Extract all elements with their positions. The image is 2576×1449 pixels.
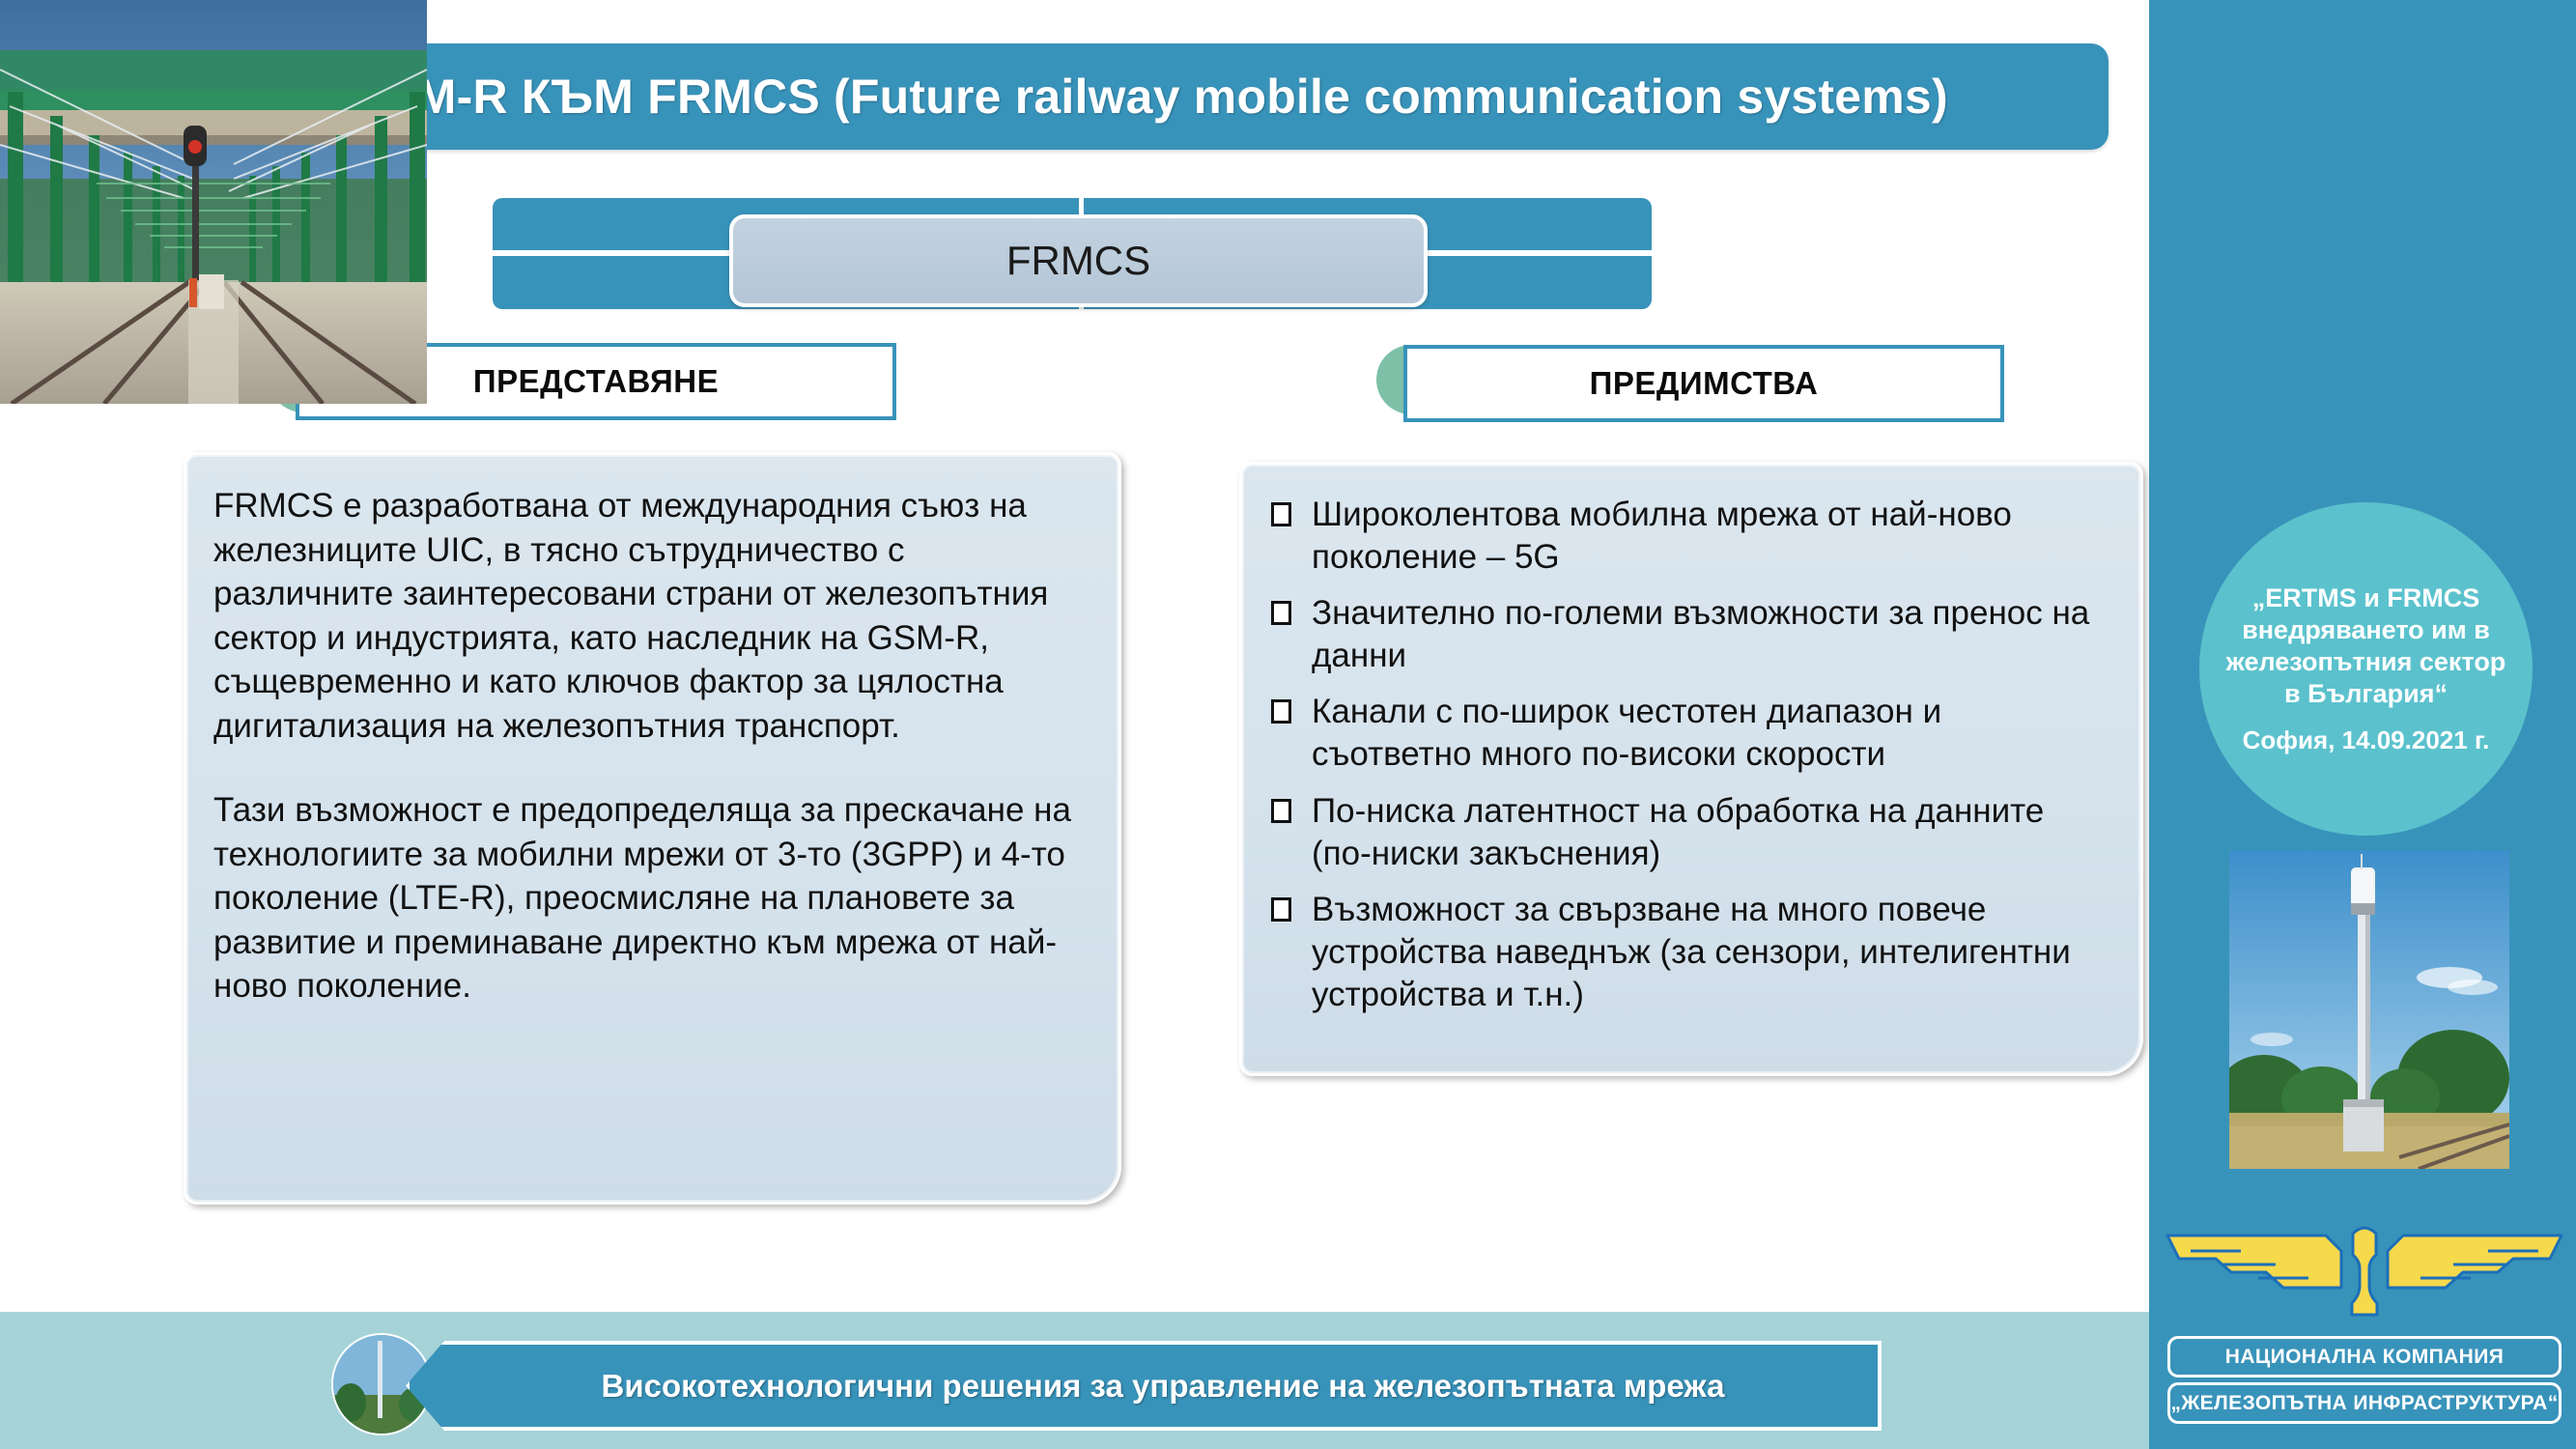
list-item: Значително по-големи възможности за прен… (1269, 592, 2108, 677)
section-heading-presentation: ПРЕДСТАВЯНЕ (473, 363, 719, 400)
frmcs-band: FRMCS (493, 198, 1652, 309)
list-item-label: Възможност за свързване на много повече … (1312, 891, 2071, 1013)
list-item: Възможност за свързване на много повече … (1269, 889, 2108, 1016)
square-bullet-icon (1271, 699, 1291, 724)
frmcs-label: FRMCS (1006, 238, 1150, 284)
presentation-panel-body: FRMCS е разработвана от международния съ… (186, 455, 1118, 1202)
winged-rail-emblem-icon (2162, 1212, 2567, 1328)
advantages-list: Широколентова мобилна мрежа от най-ново … (1269, 494, 2108, 1016)
list-item-label: Широколентова мобилна мрежа от най-ново … (1312, 496, 2012, 576)
advantages-panel-body: Широколентова мобилна мрежа от най-ново … (1242, 465, 2140, 1073)
event-date: София, 14.09.2021 г. (2243, 725, 2490, 755)
square-bullet-icon (1271, 601, 1291, 625)
footer-ribbon: Високотехнологични решения за управление… (406, 1341, 1882, 1431)
paragraph: FRMCS е разработвана от международния съ… (213, 484, 1086, 748)
event-title-circle: „ERTMS и FRMCS внедряването им в железоп… (2199, 502, 2533, 836)
list-item-label: Значително по-големи възможности за прен… (1312, 594, 2089, 674)
railway-tracks-photo (0, 0, 427, 404)
logo-line-2: „ЖЕЛЕЗОПЪТНА ИНФРАСТРУКТУРА“ (2167, 1382, 2562, 1424)
company-logo: НАЦИОНАЛНА КОМПАНИЯ „ЖЕЛЕЗОПЪТНА ИНФРАСТ… (2162, 1212, 2567, 1439)
frmcs-label-box: FRMCS (729, 214, 1428, 307)
square-bullet-icon (1271, 897, 1291, 922)
cell-tower-photo (2229, 850, 2509, 1169)
section-header-right: ПРЕДИМСТВА (1376, 345, 2004, 414)
section-heading-advantages: ПРЕДИМСТВА (1590, 365, 1819, 402)
presentation-panel: FRMCS е разработвана от международния съ… (184, 452, 1121, 1205)
list-item-label: Канали с по-широк честотен диапазон и съ… (1312, 693, 1941, 773)
square-bullet-icon (1271, 502, 1291, 526)
list-item: Широколентова мобилна мрежа от най-ново … (1269, 494, 2108, 579)
list-item-label: По-ниска латентност на обработка на данн… (1312, 792, 2044, 872)
railway-photo-graphic (0, 0, 427, 404)
paragraph: Тази възможност е предопределяща за прес… (213, 788, 1086, 1009)
page-title: ОТ GSM-R КЪМ FRMCS (Future railway mobil… (265, 69, 1948, 125)
list-item: По-ниска латентност на обработка на данн… (1269, 790, 2108, 875)
cell-tower-photo-graphic (2229, 850, 2509, 1169)
square-bullet-icon (1271, 799, 1291, 823)
logo-line-1: НАЦИОНАЛНА КОМПАНИЯ (2167, 1336, 2562, 1378)
footer-ribbon-text: Високотехнологични решения за управление… (563, 1368, 1725, 1405)
event-title: „ERTMS и FRMCS внедряването им в железоп… (2217, 582, 2515, 710)
advantages-panel: Широколентова мобилна мрежа от най-ново … (1239, 462, 2143, 1076)
list-item: Канали с по-широк честотен диапазон и съ… (1269, 691, 2108, 776)
section-header-right-frame: ПРЕДИМСТВА (1403, 345, 2004, 422)
slide: ОТ GSM-R КЪМ FRMCS (Future railway mobil… (0, 0, 2576, 1449)
